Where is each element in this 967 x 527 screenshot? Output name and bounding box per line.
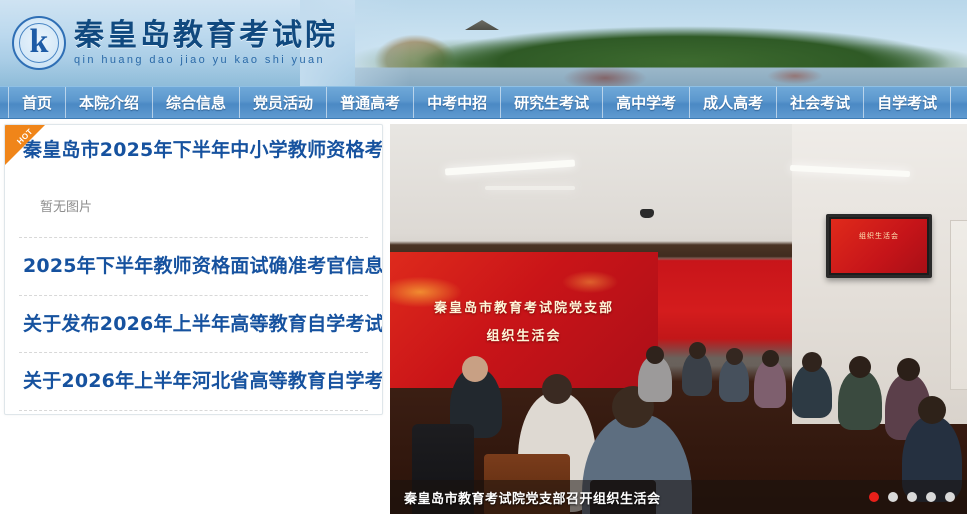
person-figure <box>897 358 920 381</box>
carousel-dot-3[interactable] <box>907 492 917 502</box>
person-figure <box>462 356 488 382</box>
wall-tv-icon: 组织生活会 <box>826 214 932 278</box>
nav-item-social[interactable]: 社会考试 <box>777 87 864 118</box>
carousel-dot-1[interactable] <box>869 492 879 502</box>
carousel-dots[interactable] <box>869 492 955 502</box>
circular-k-emblem-icon: k <box>12 16 66 70</box>
person-figure <box>792 364 832 418</box>
site-header-banner: k 秦皇岛教育考试院 qin huang dao jiao yu kao shi… <box>0 0 967 86</box>
person-figure <box>726 348 743 365</box>
nav-item-gaokao[interactable]: 普通高考 <box>327 87 414 118</box>
nav-item-party[interactable]: 党员活动 <box>240 87 327 118</box>
led-backdrop-screen: 秦皇岛市教育考试院党支部 组织生活会 <box>390 252 658 388</box>
ceiling-light-icon <box>485 186 575 190</box>
carousel-caption-bar: 秦皇岛市教育考试院党支部召开组织生活会 <box>390 480 967 514</box>
person-figure <box>754 360 786 408</box>
news-item-link-1[interactable]: 2025年下半年教师资格面试确准考官信息 <box>5 238 382 295</box>
person-figure <box>802 352 822 372</box>
led-text-line-2: 组织生活会 <box>486 325 561 344</box>
site-title-pinyin: qin huang dao jiao yu kao shi yuan <box>74 54 338 66</box>
page-content: HOT 秦皇岛市2025年下半年中小学教师资格考 暂无图片 2025年下半年教师… <box>0 119 967 527</box>
news-list-panel: HOT 秦皇岛市2025年下半年中小学教师资格考 暂无图片 2025年下半年教师… <box>4 124 383 415</box>
news-headline-link[interactable]: 秦皇岛市2025年下半年中小学教师资格考 <box>5 125 382 175</box>
list-divider <box>19 410 368 411</box>
carousel-dot-2[interactable] <box>888 492 898 502</box>
person-figure <box>918 396 946 424</box>
main-navigation[interactable]: 首页 本院介绍 综合信息 党员活动 普通高考 中考中招 研究生考试 高中学考 成… <box>0 86 967 119</box>
nav-item-postgrad[interactable]: 研究生考试 <box>501 87 603 118</box>
nav-item-info[interactable]: 综合信息 <box>153 87 240 118</box>
carousel-dot-5[interactable] <box>945 492 955 502</box>
nav-item-highschool[interactable]: 高中学考 <box>603 87 690 118</box>
site-title-cn: 秦皇岛教育考试院 <box>74 20 338 52</box>
door <box>950 220 967 390</box>
nav-item-zhongkao[interactable]: 中考中招 <box>414 87 501 118</box>
tv-screen-text: 组织生活会 <box>829 231 929 241</box>
person-figure <box>762 350 779 367</box>
led-text-line-1: 秦皇岛市教育考试院党支部 <box>434 297 614 316</box>
person-figure <box>849 356 871 378</box>
person-figure <box>542 374 572 404</box>
banner-scenery-photo <box>355 0 967 86</box>
person-figure <box>646 346 664 364</box>
person-figure <box>689 342 706 359</box>
photo-carousel[interactable]: 秦皇岛市教育考试院党支部 组织生活会 组织生活会 <box>390 124 967 514</box>
news-item-link-2[interactable]: 关于发布2026年上半年高等教育自学考试 <box>5 296 382 353</box>
site-title-group: 秦皇岛教育考试院 qin huang dao jiao yu kao shi y… <box>74 20 338 66</box>
site-logo-block[interactable]: k 秦皇岛教育考试院 qin huang dao jiao yu kao shi… <box>0 0 360 86</box>
news-item-link-3[interactable]: 关于2026年上半年河北省高等教育自学考 <box>5 353 382 410</box>
carousel-caption-text: 秦皇岛市教育考试院党支部召开组织生活会 <box>404 488 661 507</box>
carousel-dot-4[interactable] <box>926 492 936 502</box>
ceiling-light-icon <box>445 159 575 175</box>
nav-item-selfstudy[interactable]: 自学考试 <box>864 87 951 118</box>
no-image-label: 暂无图片 <box>40 196 92 215</box>
nav-item-about[interactable]: 本院介绍 <box>66 87 153 118</box>
news-thumbnail-placeholder: 暂无图片 <box>5 175 382 237</box>
person-figure <box>838 370 882 430</box>
ceiling-camera-icon <box>640 209 654 218</box>
nav-item-home[interactable]: 首页 <box>8 87 66 118</box>
carousel-photo: 秦皇岛市教育考试院党支部 组织生活会 组织生活会 <box>390 124 967 514</box>
nav-item-adult[interactable]: 成人高考 <box>690 87 777 118</box>
